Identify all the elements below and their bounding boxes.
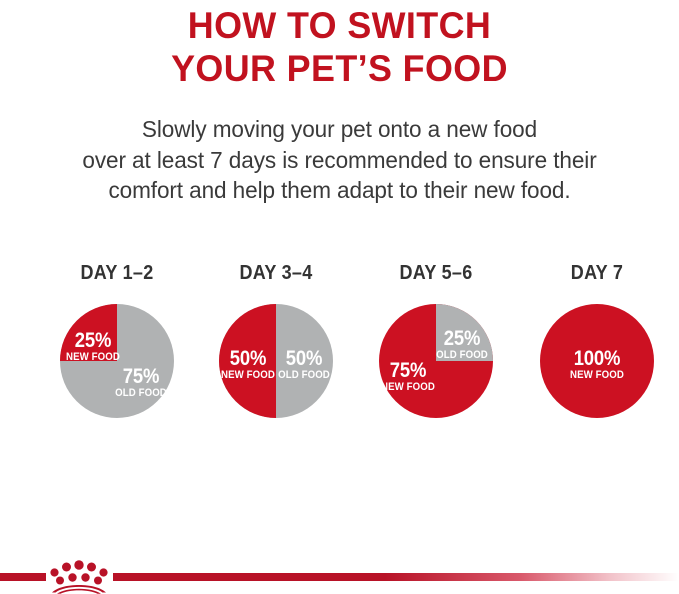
pie-chart-day-3-4: DAY 3–4 50% NEW FOOD 50% OLD FOOD (196, 262, 356, 432)
page-title: HOW TO SWITCH YOUR PET’S FOOD (0, 4, 679, 90)
slice-label-new-food: 100% NEW FOOD (566, 348, 628, 381)
footer-rule-right (113, 573, 679, 581)
intro-line-2: over at least 7 days is recommended to e… (14, 145, 666, 176)
pie-day-label: DAY 1–2 (45, 262, 189, 284)
title-line-1: HOW TO SWITCH (10, 4, 669, 47)
slice-label-new-food: 50% NEW FOOD (219, 348, 277, 381)
pie-graphic: 100% NEW FOOD (540, 304, 654, 418)
intro-line-3: comfort and help them adapt to their new… (14, 175, 666, 206)
crown-icon (44, 557, 114, 594)
pie-chart-day-5-6: DAY 5–6 25% OLD FOOD 75% NEW FOOD (356, 262, 516, 432)
crown-logo (44, 557, 114, 594)
intro-line-1: Slowly moving your pet onto a new food (14, 114, 666, 145)
slice-label-new-food: 75% NEW FOOD (377, 360, 439, 393)
pie-day-label: DAY 5–6 (364, 262, 508, 284)
pie-chart-day-1-2: DAY 1–2 25% NEW FOOD 75% OLD FOOD (37, 262, 197, 432)
pie-graphic: 50% NEW FOOD 50% OLD FOOD (219, 304, 333, 418)
pie-graphic: 25% OLD FOOD 75% NEW FOOD (379, 304, 493, 418)
slice-label-old-food: 50% OLD FOOD (275, 348, 333, 381)
title-line-2: YOUR PET’S FOOD (10, 47, 669, 90)
slice-label-new-food: 25% NEW FOOD (62, 330, 124, 363)
pie-day-label: DAY 7 (525, 262, 669, 284)
intro-paragraph: Slowly moving your pet onto a new food o… (0, 114, 679, 206)
footer-rule-left (0, 573, 46, 581)
pie-graphic: 25% NEW FOOD 75% OLD FOOD (60, 304, 174, 418)
pie-chart-day-7: DAY 7 100% NEW FOOD (517, 262, 677, 432)
footer-band (0, 566, 679, 594)
transition-schedule-charts: DAY 1–2 25% NEW FOOD 75% OLD FOOD DAY 3–… (0, 262, 679, 432)
slice-label-old-food: 25% OLD FOOD (433, 328, 491, 361)
pie-day-label: DAY 3–4 (204, 262, 348, 284)
slice-label-old-food: 75% OLD FOOD (110, 366, 172, 399)
